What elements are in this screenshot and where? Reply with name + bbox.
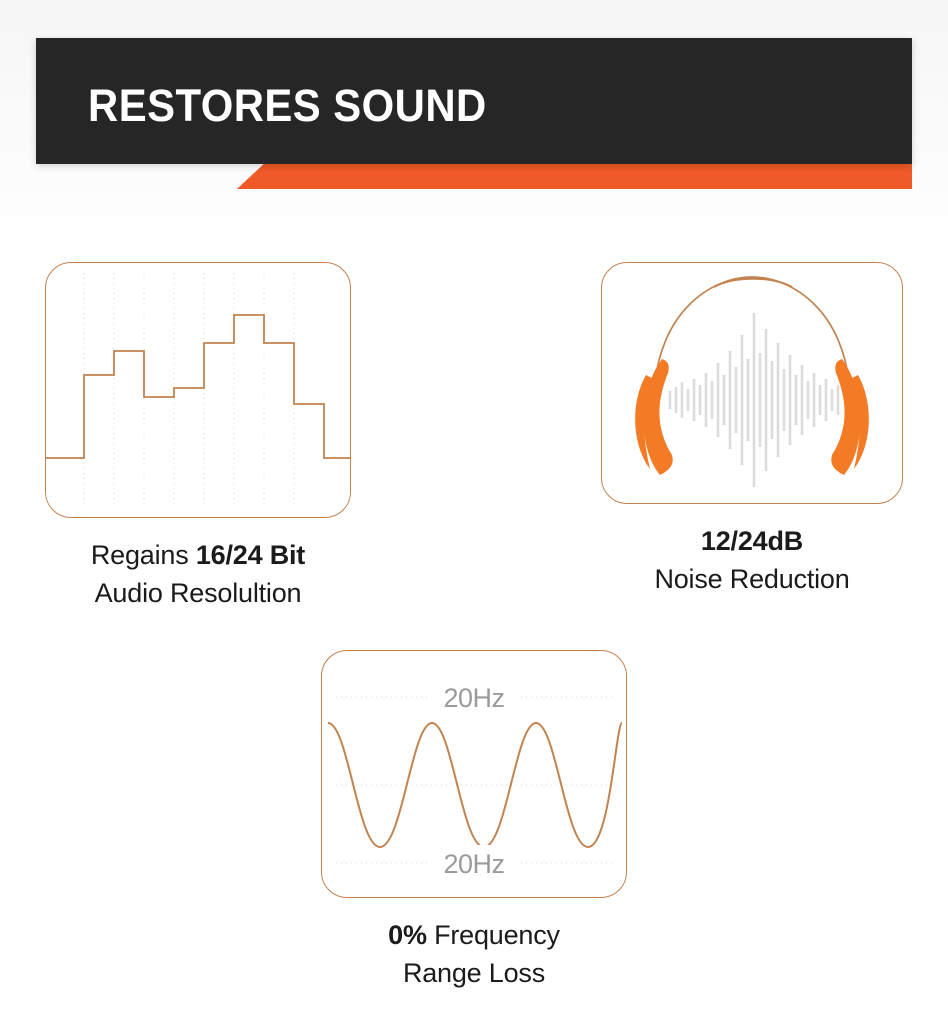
header-banner: RESTORES SOUND: [0, 0, 948, 210]
step-waveform-path: [46, 315, 350, 458]
bottom-frequency-label: 20Hz: [443, 849, 504, 879]
top-frequency-label: 20Hz: [443, 683, 504, 713]
feature-noise-reduction: 12/24dB Noise Reduction: [601, 262, 903, 598]
feature-grid: Regains 16/24 Bit Audio Resolultion: [0, 262, 948, 992]
sine-wave-icon: 20Hz 20Hz: [322, 651, 626, 897]
feature-caption-frequency-range-loss: 0% Frequency Range Loss: [388, 916, 560, 992]
sine-wave-card: 20Hz 20Hz: [321, 650, 627, 898]
page-title: RESTORES SOUND: [88, 78, 487, 134]
headband-inner-arc: [714, 279, 792, 287]
step-waveform-icon: [46, 263, 350, 517]
vertical-gridlines: [84, 273, 294, 507]
feature-row-top: Regains 16/24 Bit Audio Resolultion: [0, 262, 948, 612]
headphones-card: [601, 262, 903, 504]
caption-line-1: Regains 16/24 Bit: [91, 540, 305, 570]
headband-outer-arc: [654, 277, 850, 395]
caption-line-1: 0% Frequency: [388, 920, 560, 950]
feature-row-bottom: 20Hz 20Hz 0% Frequency Range Loss: [0, 650, 948, 992]
feature-caption-noise-reduction: 12/24dB Noise Reduction: [654, 522, 849, 598]
caption-line-2: Noise Reduction: [654, 564, 849, 594]
sine-wave-path: [328, 723, 622, 847]
feature-frequency-range-loss: 20Hz 20Hz 0% Frequency Range Loss: [321, 650, 627, 992]
caption-line-2: Range Loss: [403, 958, 545, 988]
feature-caption-audio-resolution: Regains 16/24 Bit Audio Resolultion: [91, 536, 305, 612]
caption-line-2: Audio Resolultion: [95, 578, 302, 608]
feature-audio-resolution: Regains 16/24 Bit Audio Resolultion: [45, 262, 351, 612]
step-waveform-card: [45, 262, 351, 518]
waveform-bars: [670, 313, 838, 487]
caption-line-1: 12/24dB: [701, 526, 803, 556]
headphones-waveform-icon: [602, 263, 902, 503]
